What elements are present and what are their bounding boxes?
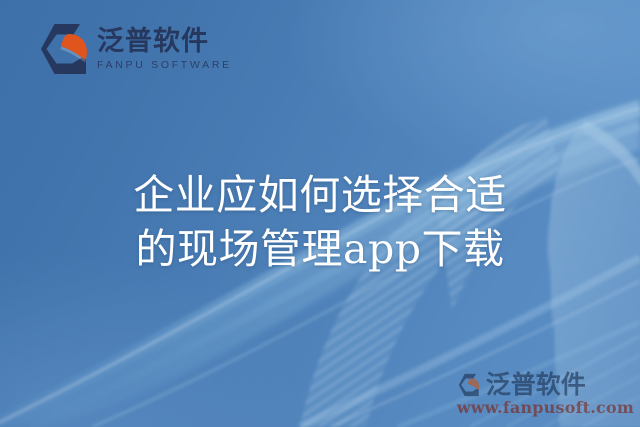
fanpu-hexagon-sail-logo-icon xyxy=(40,22,88,76)
headline-line-1: 企业应如何选择合适 xyxy=(0,168,640,222)
watermark-url: www.fanpusoft.com xyxy=(457,398,634,417)
banner-image: 泛普软件 FANPU SOFTWARE 企业应如何选择合适 的现场管理app下载… xyxy=(0,0,640,427)
headline: 企业应如何选择合适 的现场管理app下载 xyxy=(0,168,640,276)
brand-name-cn: 泛普软件 xyxy=(97,28,232,55)
headline-line-2: 的现场管理app下载 xyxy=(0,222,640,276)
brand-text-block: 泛普软件 FANPU SOFTWARE xyxy=(97,28,232,71)
watermark-name-cn: 泛普软件 xyxy=(486,372,586,397)
watermark-logo-row: 泛普软件 xyxy=(456,372,586,397)
brand-name-en: FANPU SOFTWARE xyxy=(97,60,232,71)
fanpu-hexagon-sail-logo-icon xyxy=(456,373,482,397)
brand-logo: 泛普软件 FANPU SOFTWARE xyxy=(40,22,232,76)
watermark: 泛普软件 www.fanpusoft.com xyxy=(456,372,634,417)
